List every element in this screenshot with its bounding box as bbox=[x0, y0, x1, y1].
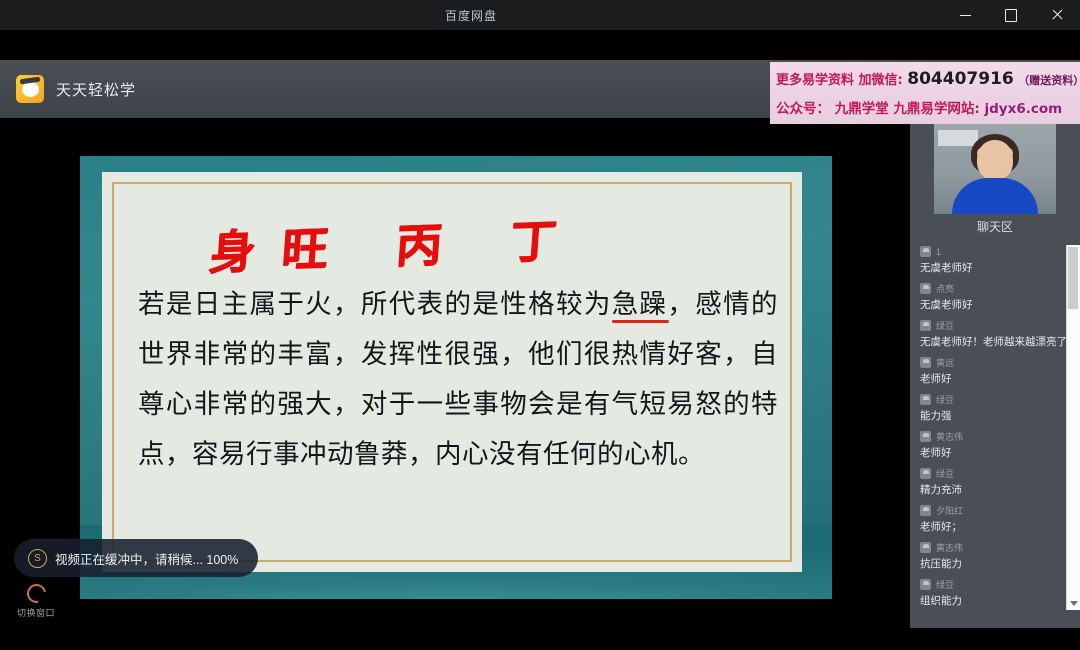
avatar bbox=[920, 394, 931, 405]
chat-username: 点亮 bbox=[936, 282, 954, 295]
promo-line1-prefix: 更多易学资料 加微信: bbox=[776, 73, 903, 88]
footer-bar bbox=[0, 628, 1080, 650]
avatar bbox=[920, 320, 931, 331]
chat-message: 黄远老师好 bbox=[910, 353, 1070, 386]
chat-username: 绿豆 bbox=[936, 578, 954, 591]
chat-user: 点亮 bbox=[920, 280, 1070, 297]
paragraph-part-1: 若是日主属于火，所代表的是性格较为 bbox=[138, 289, 612, 320]
switch-window-button[interactable]: 切换窗口 bbox=[6, 584, 66, 619]
chat-scrollbar-thumb[interactable] bbox=[1068, 247, 1078, 309]
refresh-icon bbox=[23, 580, 49, 606]
avatar bbox=[920, 542, 931, 553]
chat-user: 夕阳红 bbox=[920, 502, 1070, 519]
chat-username: 黄志伟 bbox=[936, 541, 963, 554]
buffering-message: 视频正在缓冲中，请稍候... 100% bbox=[55, 549, 238, 568]
slide-canvas: 身旺 丙 丁 若是日主属于火，所代表的是性格较为急躁，感情的世界非常的丰富，发挥… bbox=[80, 156, 832, 599]
chat-message: 黄志伟老师好 bbox=[910, 427, 1070, 460]
chat-username: 绿豆 bbox=[936, 467, 954, 480]
promo-line-1: 更多易学资料 加微信: 804407916 （赠送资料） bbox=[776, 69, 1080, 89]
chat-user: 绿豆 bbox=[920, 576, 1070, 593]
video-note-decoration bbox=[938, 130, 978, 146]
chat-username: 绿豆 bbox=[936, 319, 954, 332]
chat-text: 无虞老师好 bbox=[920, 262, 1070, 275]
app-top-strip bbox=[0, 30, 1080, 60]
avatar bbox=[920, 283, 931, 294]
slide-paragraph: 若是日主属于火，所代表的是性格较为急躁，感情的世界非常的丰富，发挥性很强，他们很… bbox=[138, 280, 778, 480]
video-stage[interactable]: 身旺 丙 丁 若是日主属于火，所代表的是性格较为急躁，感情的世界非常的丰富，发挥… bbox=[0, 118, 910, 628]
chat-username: 绿豆 bbox=[936, 393, 954, 406]
slide-card-inner: 身旺 丙 丁 若是日主属于火，所代表的是性格较为急躁，感情的世界非常的丰富，发挥… bbox=[112, 182, 792, 562]
maximize-icon bbox=[1005, 9, 1017, 22]
chat-message: 绿豆无虞老师好！老师越来越漂亮了 bbox=[910, 316, 1070, 349]
window-controls bbox=[942, 0, 1080, 30]
chat-text: 无虞老师好！老师越来越漂亮了 bbox=[920, 336, 1070, 349]
chat-message: 黄志伟抗压能力 bbox=[910, 538, 1070, 571]
slide-card: 身旺 丙 丁 若是日主属于火，所代表的是性格较为急躁，感情的世界非常的丰富，发挥… bbox=[102, 172, 802, 572]
chat-username: 黄志伟 bbox=[936, 430, 963, 443]
coin-icon: S bbox=[28, 549, 47, 568]
avatar bbox=[920, 246, 931, 257]
window-title-bar: 百度网盘 bbox=[0, 0, 1080, 30]
buffering-toast: S 视频正在缓冲中，请稍候... 100% bbox=[14, 539, 258, 577]
chat-user: 黄志伟 bbox=[920, 428, 1070, 445]
promo-line-2: 公众号： 九鼎学堂 九鼎易学网站: jdyx6.com bbox=[776, 97, 1080, 117]
chat-user: 黄远 bbox=[920, 354, 1070, 371]
chat-user: 1 bbox=[920, 243, 1070, 260]
chat-username: 夕阳红 bbox=[936, 504, 963, 517]
paragraph-highlight: 急躁 bbox=[612, 289, 668, 320]
chat-text: 精力充沛 bbox=[920, 484, 1070, 497]
avatar bbox=[920, 357, 931, 368]
chat-username: 1 bbox=[936, 247, 941, 257]
switch-window-label: 切换窗口 bbox=[6, 606, 66, 619]
chat-text: 老师好 bbox=[920, 447, 1070, 460]
chat-scrollbar[interactable] bbox=[1066, 245, 1080, 610]
avatar bbox=[920, 431, 931, 442]
chat-username: 黄远 bbox=[936, 356, 954, 369]
chat-text: 老师好 bbox=[920, 373, 1070, 386]
chat-header: 聊天区 bbox=[910, 216, 1080, 238]
video-person-head bbox=[977, 140, 1013, 180]
handwritten-annotation: 身旺 丙 丁 bbox=[207, 204, 585, 283]
chat-message: 绿豆组织能力 bbox=[910, 575, 1070, 608]
chat-message: 夕阳红老师好； bbox=[910, 501, 1070, 534]
close-icon bbox=[1051, 9, 1063, 21]
minimize-icon bbox=[960, 15, 971, 16]
chat-user: 绿豆 bbox=[920, 317, 1070, 334]
chat-message: 点亮无虞老师好 bbox=[910, 279, 1070, 312]
avatar bbox=[920, 579, 931, 590]
chat-text: 抗压能力 bbox=[920, 558, 1070, 571]
avatar bbox=[920, 505, 931, 516]
graduation-cap-icon bbox=[16, 75, 44, 103]
app-window: 百度网盘 天天轻松学 身旺 丙 丁 若是日主属于火，所代表的是性格较为急躁，感情… bbox=[0, 0, 1080, 650]
maximize-button[interactable] bbox=[988, 0, 1034, 30]
promo-line1-suffix: （赠送资料） bbox=[1018, 74, 1080, 87]
chat-text: 能力强 bbox=[920, 410, 1070, 423]
chat-text: 组织能力 bbox=[920, 595, 1070, 608]
promo-line2-account: 九鼎学堂 九鼎易学网站: bbox=[835, 101, 980, 117]
promo-website: jdyx6.com bbox=[985, 101, 1063, 117]
avatar bbox=[920, 468, 931, 479]
chat-message: 1无虞老师好 bbox=[910, 242, 1070, 275]
close-button[interactable] bbox=[1034, 0, 1080, 30]
promo-wechat-number: 804407916 bbox=[907, 69, 1013, 89]
promo-banner: 更多易学资料 加微信: 804407916 （赠送资料） 公众号： 九鼎学堂 九… bbox=[770, 62, 1080, 124]
chat-user: 黄志伟 bbox=[920, 539, 1070, 556]
teacher-video-thumbnail[interactable] bbox=[934, 124, 1056, 214]
chat-text: 无虞老师好 bbox=[920, 299, 1070, 312]
minimize-button[interactable] bbox=[942, 0, 988, 30]
chat-message: 绿豆能力强 bbox=[910, 390, 1070, 423]
chat-message-list[interactable]: 1无虞老师好点亮无虞老师好绿豆无虞老师好！老师越来越漂亮了黄远老师好绿豆能力强黄… bbox=[910, 240, 1070, 610]
brand-name: 天天轻松学 bbox=[56, 79, 136, 100]
chat-message: 绿豆精力充沛 bbox=[910, 464, 1070, 497]
promo-line2-prefix: 公众号： bbox=[776, 101, 830, 117]
scroll-down-icon[interactable] bbox=[1070, 601, 1078, 606]
chat-user: 绿豆 bbox=[920, 465, 1070, 482]
window-title: 百度网盘 bbox=[0, 7, 942, 24]
chat-text: 老师好； bbox=[920, 521, 1070, 534]
chat-user: 绿豆 bbox=[920, 391, 1070, 408]
